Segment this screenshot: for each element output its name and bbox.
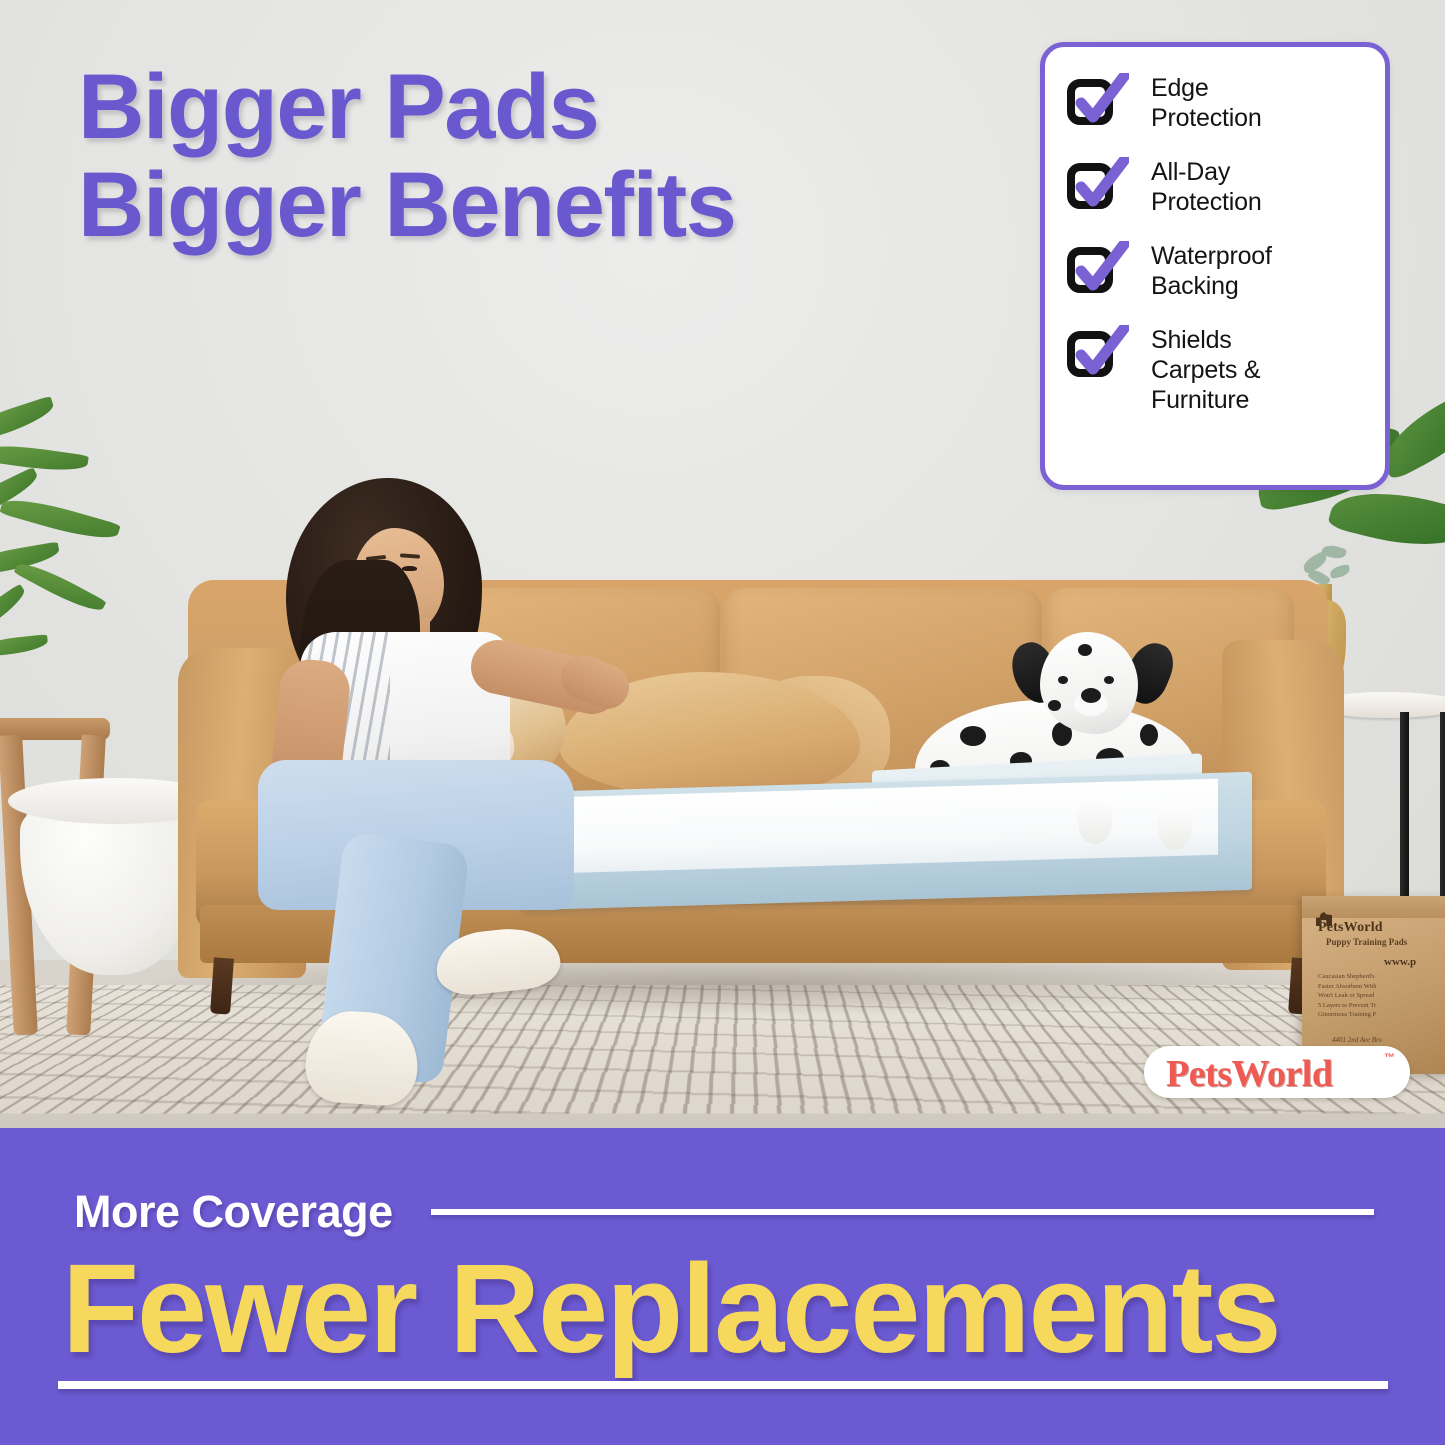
carton-bullet: Caucasian Shepherd's — [1318, 972, 1445, 982]
feature-item-all-day-protection: All-Day Protection — [1067, 157, 1365, 217]
carton-url-text: www.p — [1384, 956, 1416, 968]
carton-bullet-list: Caucasian Shepherd's Faster Absorbent Wi… — [1318, 972, 1445, 1020]
carton-brand-text: PetsWorld — [1318, 920, 1444, 936]
feature-checklist-card: Edge Protection All-Day Protection Water… — [1040, 42, 1390, 490]
checkbox-checked-icon — [1067, 157, 1129, 209]
feature-item-edge-protection: Edge Protection — [1067, 73, 1365, 133]
dalmatian-paw — [1158, 806, 1192, 850]
feature-item-shields-carpets-furniture: Shields Carpets & Furniture — [1067, 325, 1365, 415]
page-title: Bigger Pads Bigger Benefits — [78, 58, 735, 254]
dalmatian-spot — [1140, 724, 1158, 746]
sofa-leg — [210, 957, 234, 1014]
woman-eye — [402, 566, 417, 571]
carton-address-text: 4401 2nd Ave Bro — [1332, 1036, 1382, 1044]
feature-label: Edge Protection — [1129, 73, 1262, 133]
dalmatian-nose — [1081, 688, 1101, 703]
banner-kicker-text: More Coverage — [74, 1186, 393, 1238]
checkbox-checked-icon — [1067, 241, 1129, 293]
carton-subtitle-text: Puppy Training Pads — [1326, 937, 1445, 947]
dalmatian-eye — [1104, 676, 1114, 684]
dalmatian-spot — [1048, 700, 1061, 711]
feature-label: All-Day Protection — [1129, 157, 1262, 217]
checkbox-checked-icon — [1067, 325, 1129, 377]
banner-kicker-row: More Coverage — [74, 1186, 1374, 1238]
checkbox-checked-icon — [1067, 73, 1129, 125]
bottom-banner: More Coverage Fewer Replacements — [0, 1128, 1445, 1445]
dalmatian-paw — [1078, 800, 1112, 844]
carton-bullet: 5 Layers to Prevent Tr — [1318, 1001, 1445, 1011]
banner-bottom-rule — [58, 1381, 1388, 1389]
feature-label: Waterproof Backing — [1129, 241, 1272, 301]
brand-logo-text: PetsWorld — [1166, 1052, 1332, 1096]
banner-divider-rule — [431, 1209, 1374, 1215]
banner-headline-text: Fewer Replacements — [62, 1246, 1280, 1372]
right-side-table-leg — [1400, 712, 1409, 924]
carton-bullet: Faster Absorbent With — [1318, 982, 1445, 992]
dalmatian-spot — [960, 726, 986, 746]
feature-label: Shields Carpets & Furniture — [1129, 325, 1260, 415]
carton-bullet: Won't Leak or Spread — [1318, 991, 1445, 1001]
trademark-symbol: ™ — [1384, 1052, 1395, 1064]
dalmatian-spot — [1078, 644, 1092, 656]
dalmatian-eye — [1058, 676, 1068, 684]
right-side-table-leg — [1440, 712, 1445, 924]
carton-bullet: Ginormous Training P — [1318, 1010, 1445, 1020]
feature-item-waterproof-backing: Waterproof Backing — [1067, 241, 1365, 301]
product-marketing-poster: PetsWorld Puppy Training Pads www.p Cauc… — [0, 0, 1445, 1445]
